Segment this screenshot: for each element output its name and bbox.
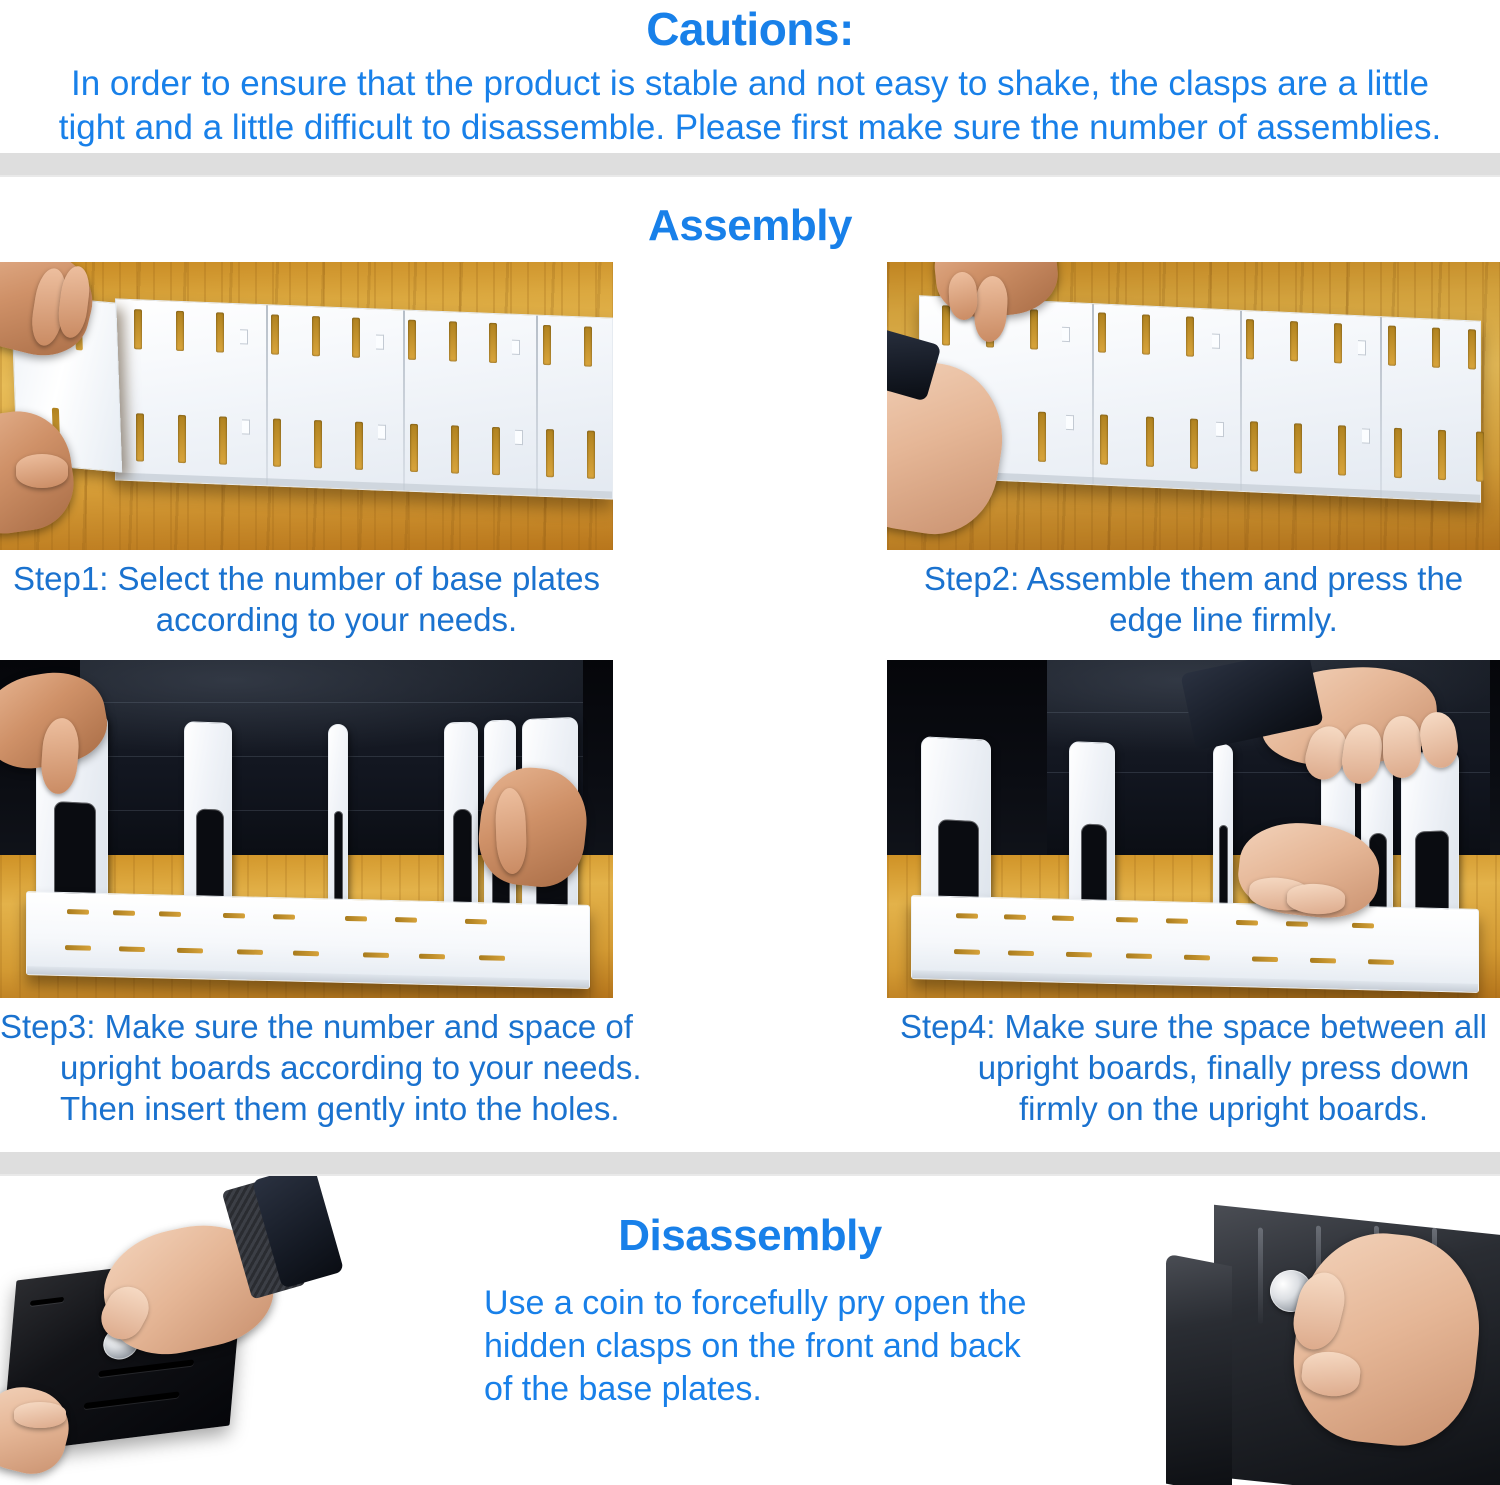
step3-caption: Step3: Make sure the number and space of… (0, 998, 613, 1129)
disassembly-line-1: Use a coin to forcefully pry open the (484, 1282, 1124, 1325)
step2-caption-line-1: Step2: Assemble them and press the (887, 558, 1500, 599)
disassembly-photo-right (1148, 1176, 1500, 1485)
assembly-step-1: Step1: Select the number of base plates … (0, 262, 613, 640)
base-plate (26, 891, 590, 989)
assembly-row-1: Step1: Select the number of base plates … (0, 262, 1500, 652)
finger (948, 271, 978, 320)
upright-board-dark (1166, 1254, 1232, 1485)
assembly-row-2: Step3: Make sure the number and space of… (0, 660, 1500, 1152)
step4-caption: Step4: Make sure the space between all u… (887, 998, 1500, 1129)
assembly-title: Assembly (0, 204, 1500, 248)
step2-caption: Step2: Assemble them and press the edge … (887, 550, 1500, 640)
finger (16, 454, 68, 488)
step3-caption-line-2: upright boards according to your needs. (0, 1047, 613, 1088)
step3-caption-line-1: Step3: Make sure the number and space of (0, 1006, 613, 1047)
step3-photo (0, 660, 613, 998)
base-plates-joined (115, 298, 613, 499)
cautions-line-1: In order to ensure that the product is s… (0, 62, 1500, 106)
disassembly-line-2: hidden clasps on the front and back (484, 1325, 1124, 1368)
step4-caption-line-3: firmly on the upright boards. (887, 1088, 1500, 1129)
disassembly-line-3: of the base plates. (484, 1368, 1124, 1411)
cautions-paragraph: In order to ensure that the product is s… (0, 62, 1500, 150)
cautions-section: Cautions: In order to ensure that the pr… (0, 0, 1500, 153)
disassembly-section: Disassembly Use a coin to forcefully pry… (0, 1176, 1500, 1485)
step1-caption-line-1: Step1: Select the number of base plates (0, 558, 613, 599)
base-plate (911, 895, 1479, 993)
step1-caption: Step1: Select the number of base plates … (0, 550, 613, 640)
assembly-step-3: Step3: Make sure the number and space of… (0, 660, 613, 1129)
step1-photo (0, 262, 613, 550)
step1-caption-line-2: according to your needs. (0, 599, 613, 640)
cautions-title: Cautions: (0, 0, 1500, 52)
step2-photo (887, 262, 1500, 550)
cautions-line-2: tight and a little difficult to disassem… (0, 106, 1500, 150)
step4-caption-line-1: Step4: Make sure the space between all (887, 1006, 1500, 1047)
step4-caption-line-2: upright boards, finally press down (887, 1047, 1500, 1088)
disassembly-photo-left (0, 1176, 400, 1485)
assembly-step-4: Step4: Make sure the space between all u… (887, 660, 1500, 1129)
section-divider-top (0, 153, 1500, 177)
section-divider-bottom (0, 1152, 1500, 1176)
assembly-section: Assembly (0, 177, 1500, 1152)
disassembly-paragraph: Use a coin to forcefully pry open the hi… (484, 1282, 1124, 1411)
finger (1383, 716, 1421, 778)
finger (14, 1402, 66, 1428)
step4-photo (887, 660, 1500, 998)
step3-caption-line-3: Then insert them gently into the holes. (0, 1088, 613, 1129)
step2-caption-line-2: edge line firmly. (887, 599, 1500, 640)
assembly-step-2: Step2: Assemble them and press the edge … (887, 262, 1500, 640)
